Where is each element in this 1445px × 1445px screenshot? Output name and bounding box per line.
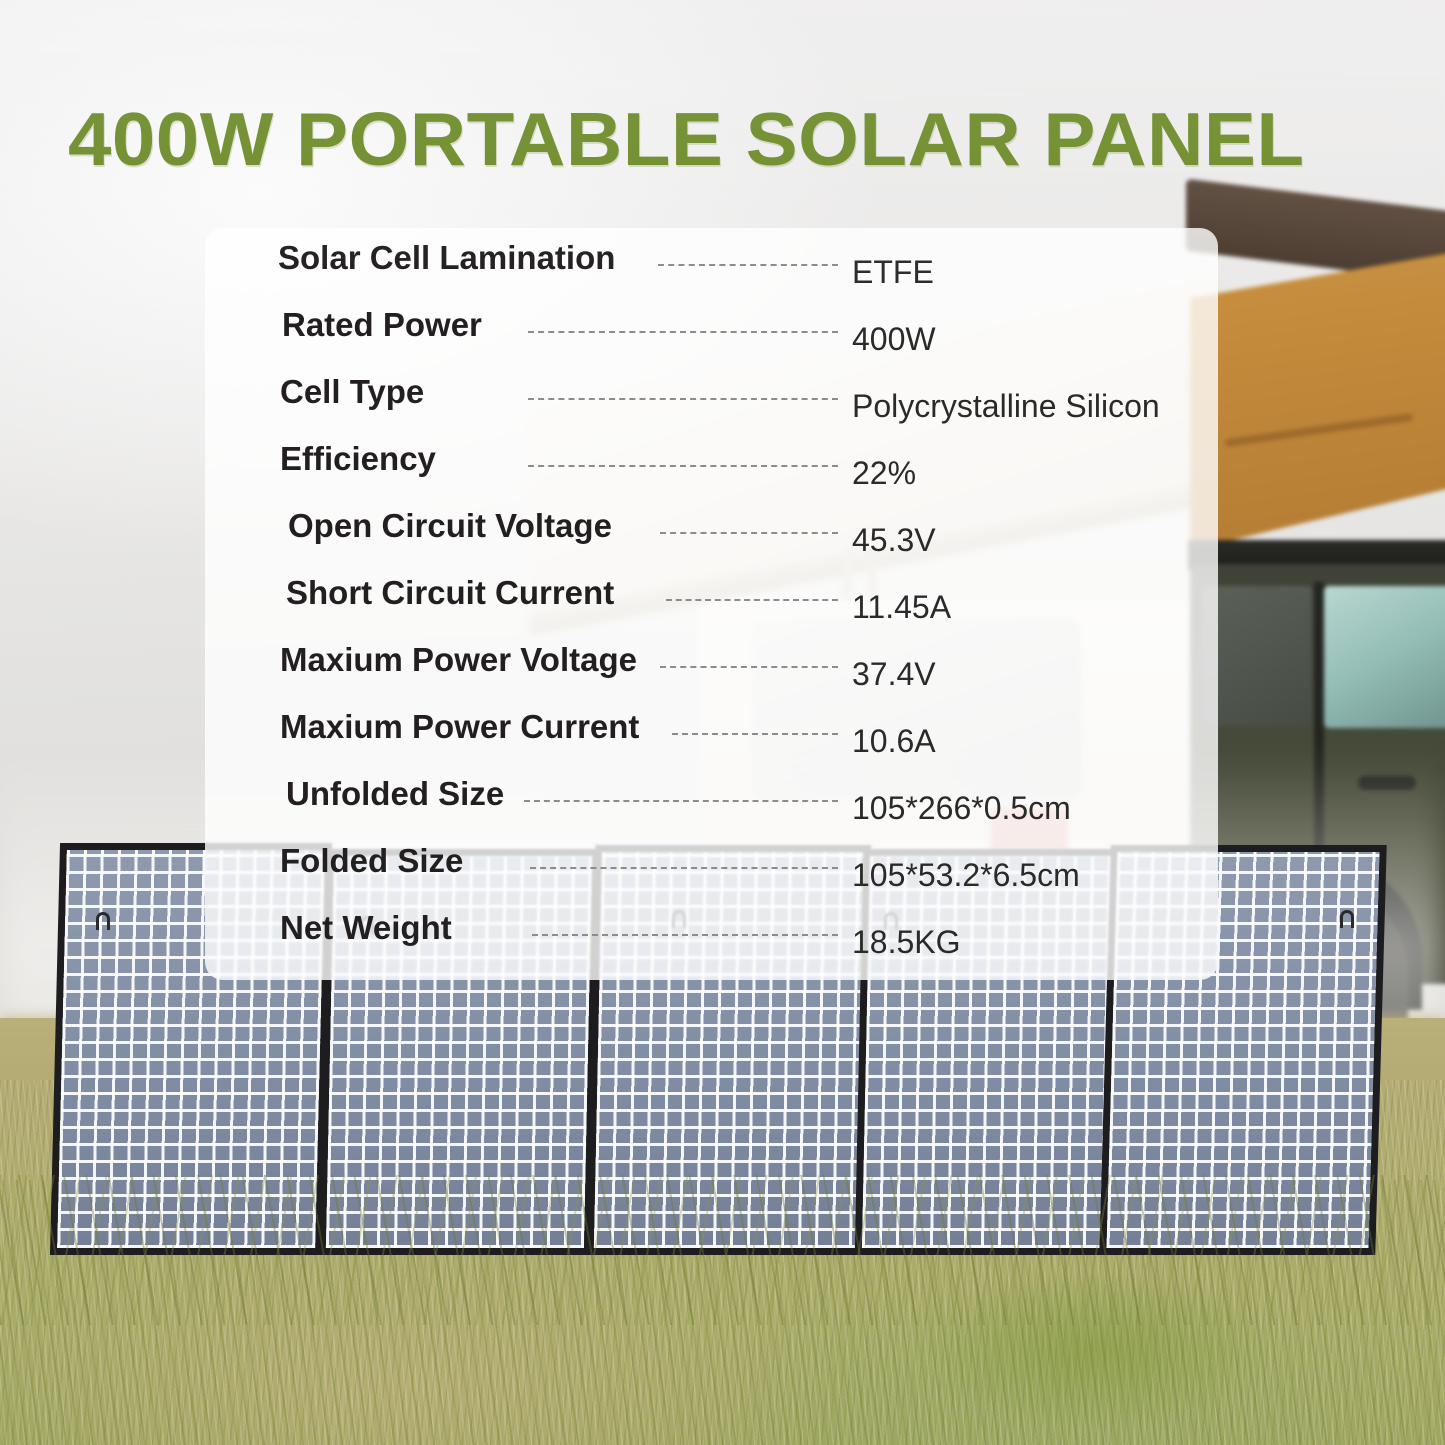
spec-value: 400W: [852, 319, 936, 359]
page-title: 400W PORTABLE SOLAR PANEL: [68, 96, 1305, 182]
foreground-grass-blades: [0, 1175, 1445, 1325]
spec-row: Open Circuit Voltage45.3V: [205, 506, 1218, 568]
spec-value: 22%: [852, 453, 916, 493]
spec-dash-leader: [660, 666, 838, 668]
spec-value: 11.45A: [852, 587, 951, 627]
spec-dash-leader: [524, 800, 838, 802]
spec-label: Folded Size: [280, 841, 463, 881]
spec-dash-leader: [528, 465, 838, 467]
spec-dash-leader: [658, 264, 838, 266]
spec-row: Cell TypePolycrystalline Silicon: [205, 372, 1218, 434]
spec-label: Cell Type: [280, 372, 424, 412]
panel-hook: [96, 912, 110, 930]
spec-dash-leader: [666, 599, 838, 601]
spec-dash-leader: [530, 867, 838, 869]
panel-hook: [1340, 910, 1354, 928]
spec-row: Rated Power400W: [205, 305, 1218, 367]
suv-rear-window: [1202, 586, 1312, 726]
spec-dash-leader: [660, 532, 838, 534]
spec-row: Folded Size105*53.2*6.5cm: [205, 841, 1218, 903]
spec-row: Maxium Power Current10.6A: [205, 707, 1218, 769]
spec-dash-leader: [532, 934, 838, 936]
rooftop-tent: [1190, 250, 1445, 550]
spec-value: 45.3V: [852, 520, 936, 560]
suv-front-window: [1324, 586, 1445, 728]
spec-row: Unfolded Size105*266*0.5cm: [205, 774, 1218, 836]
spec-label: Solar Cell Lamination: [278, 238, 615, 278]
spec-label: Maxium Power Voltage: [280, 640, 637, 680]
spec-label: Short Circuit Current: [286, 573, 614, 613]
spec-row: Efficiency22%: [205, 439, 1218, 501]
spec-value: Polycrystalline Silicon: [852, 386, 1160, 426]
spec-label: Efficiency: [280, 439, 436, 479]
spec-row: Solar Cell LaminationETFE: [205, 238, 1218, 300]
spec-card: Solar Cell LaminationETFERated Power400W…: [205, 228, 1218, 980]
spec-label: Rated Power: [282, 305, 482, 345]
spec-label: Open Circuit Voltage: [288, 506, 612, 546]
spec-dash-leader: [528, 331, 838, 333]
spec-value: 37.4V: [852, 654, 936, 694]
spec-value: 18.5KG: [852, 922, 961, 962]
spec-row: Net Weight18.5KG: [205, 908, 1218, 970]
spec-row: Maxium Power Voltage37.4V: [205, 640, 1218, 702]
spec-value: 105*266*0.5cm: [852, 788, 1071, 828]
spec-dash-leader: [672, 733, 838, 735]
spec-label: Unfolded Size: [286, 774, 504, 814]
spec-value: ETFE: [852, 252, 934, 292]
spec-dash-leader: [528, 398, 838, 400]
spec-row: Short Circuit Current11.45A: [205, 573, 1218, 635]
spec-label: Maxium Power Current: [280, 707, 639, 747]
spec-list: Solar Cell LaminationETFERated Power400W…: [205, 228, 1218, 980]
spec-label: Net Weight: [280, 908, 452, 948]
spec-value: 105*53.2*6.5cm: [852, 855, 1080, 895]
product-infographic: Solar Cell LaminationETFERated Power400W…: [0, 0, 1445, 1445]
spec-value: 10.6A: [852, 721, 936, 761]
